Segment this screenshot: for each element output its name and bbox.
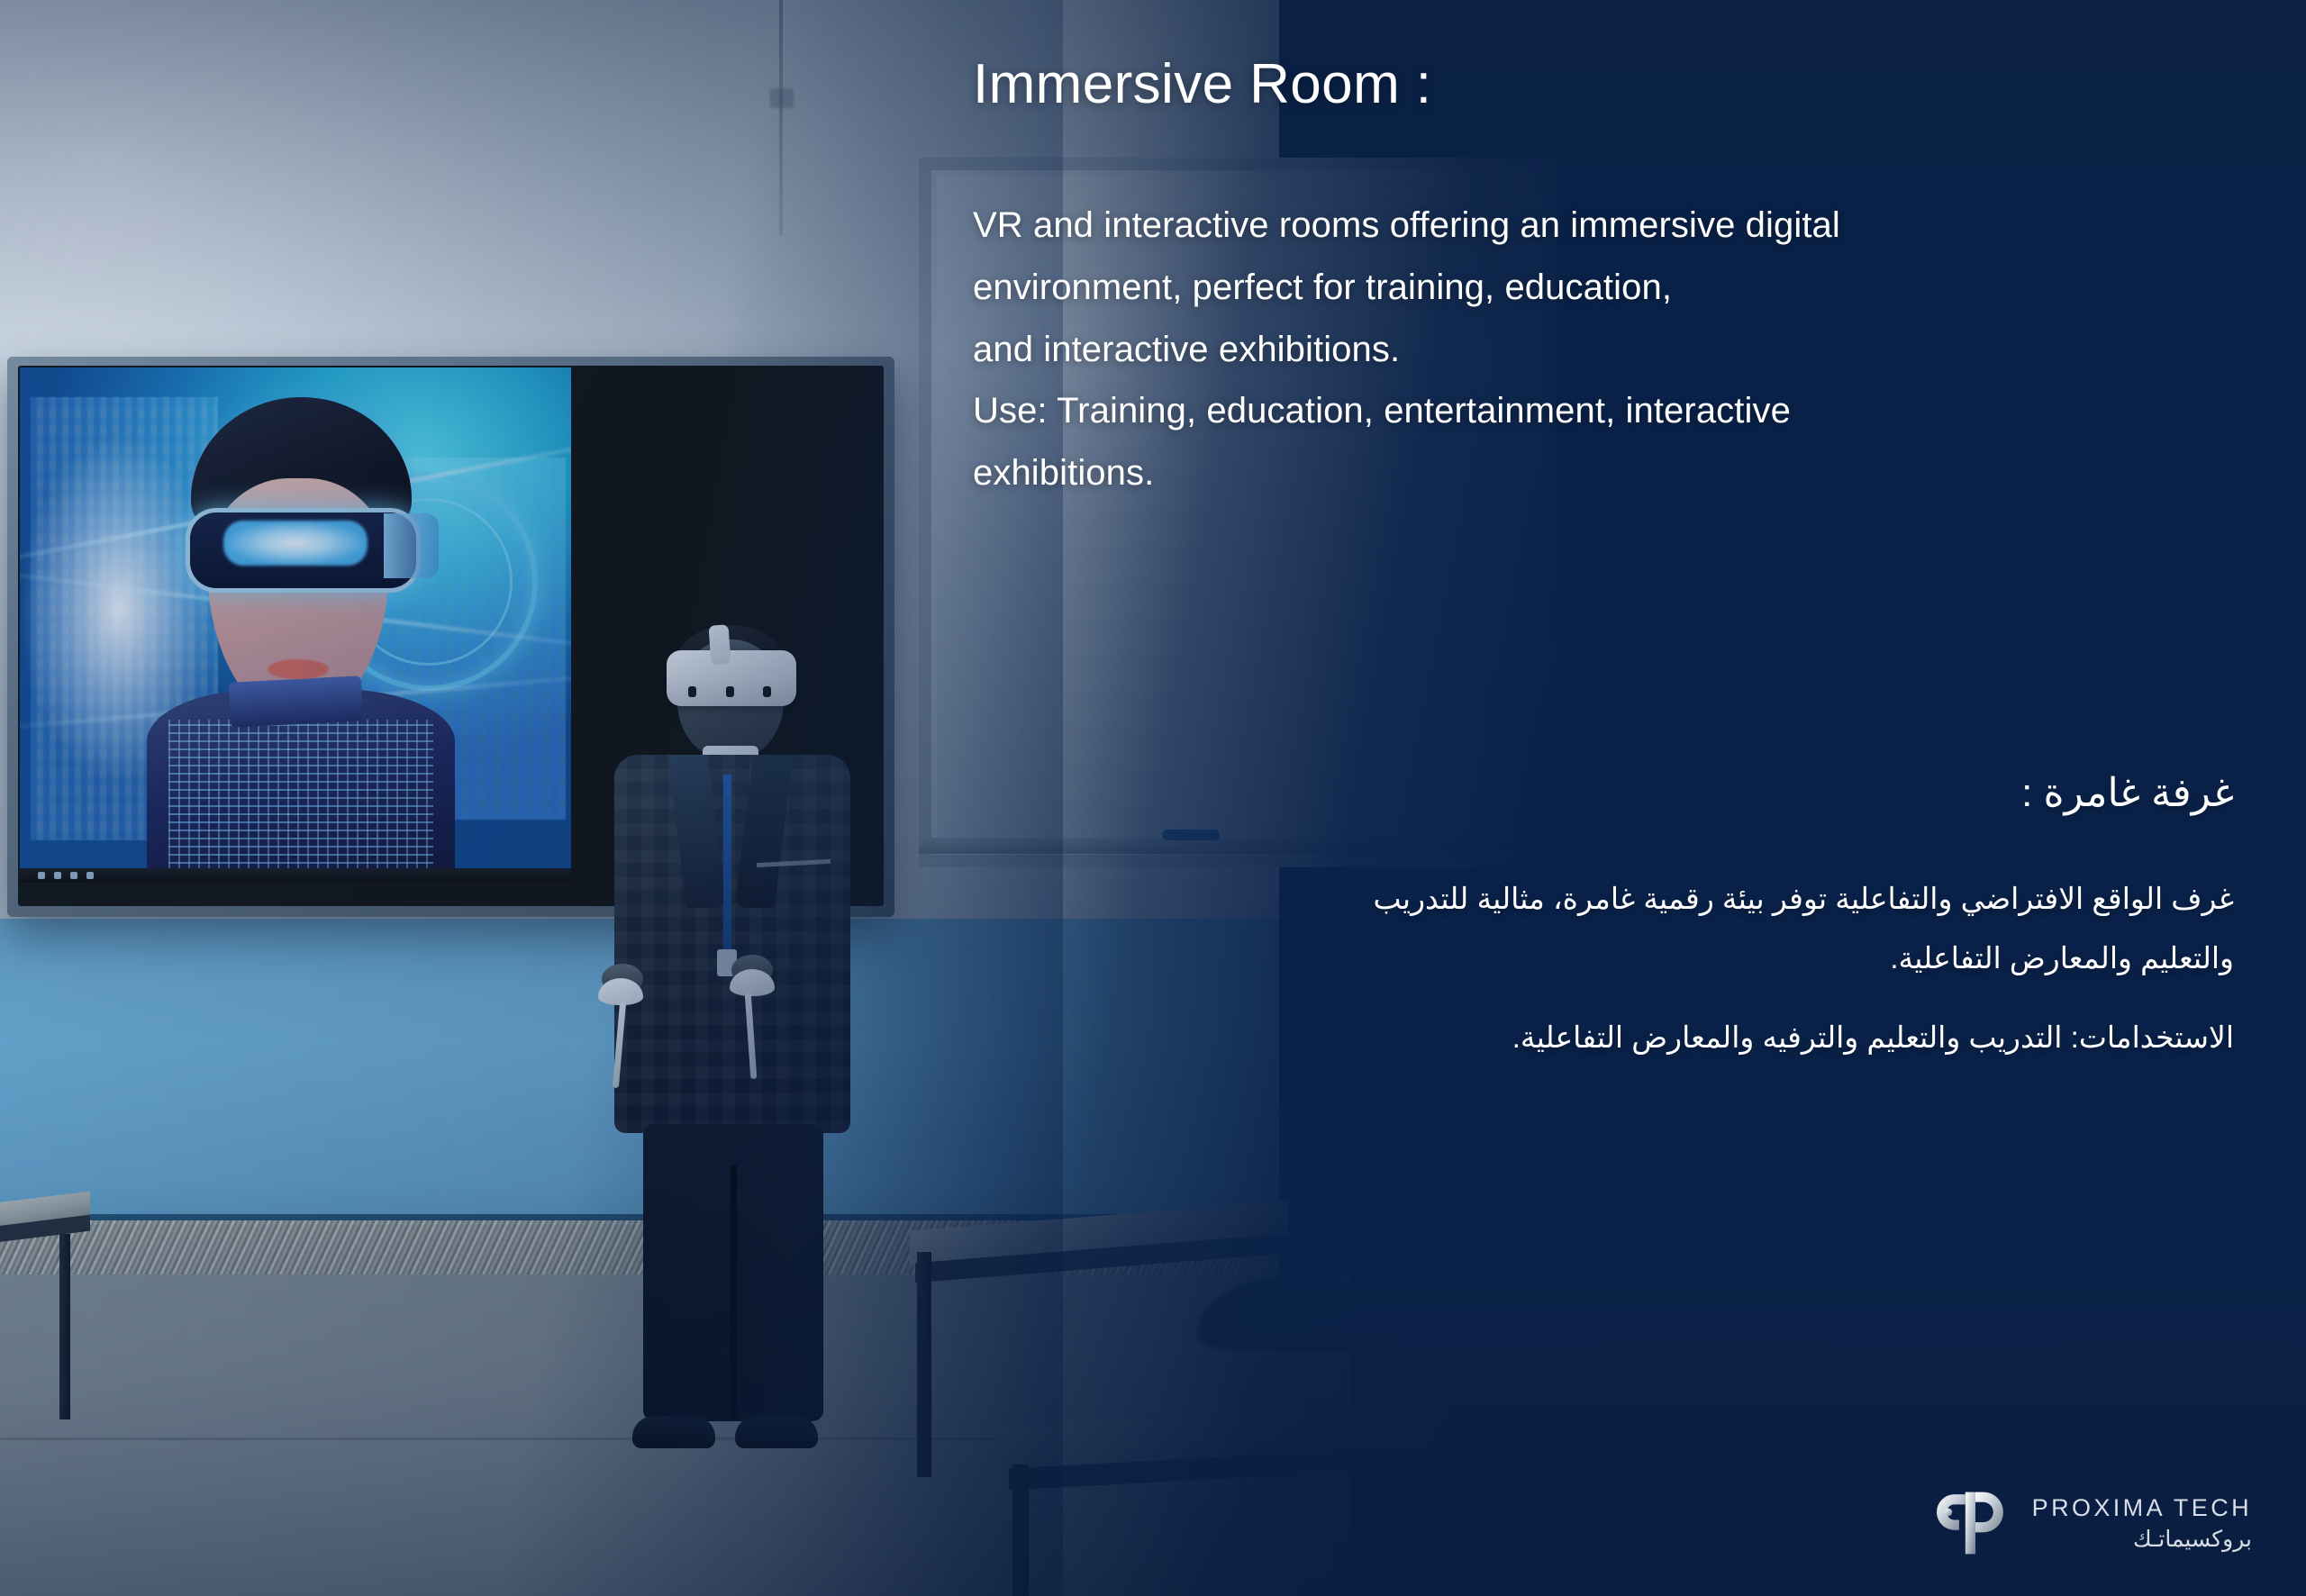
- slide-canvas: Immersive Room : VR and interactive room…: [0, 0, 2306, 1596]
- logo-name-en: PROXIMA TECH: [2032, 1494, 2252, 1522]
- arabic-line: غرف الواقع الافتراضي والتفاعلية توفر بيئ…: [973, 869, 2234, 929]
- logo-name-ar: بروكسيماتـك: [2032, 1526, 2252, 1553]
- arabic-title: غرفة غامرة :: [2021, 770, 2234, 816]
- english-line: VR and interactive rooms offering an imm…: [973, 195, 2216, 257]
- logo-wordmark: PROXIMA TECH بروكسيماتـك: [2032, 1494, 2252, 1553]
- proxima-monogram-icon: [1937, 1484, 2014, 1562]
- brand-logo: PROXIMA TECH بروكسيماتـك: [1937, 1484, 2252, 1562]
- english-line: environment, perfect for training, educa…: [973, 257, 2216, 319]
- english-line: exhibitions.: [973, 442, 2216, 504]
- arabic-description: غرف الواقع الافتراضي والتفاعلية توفر بيئ…: [973, 869, 2234, 1067]
- arabic-line: الاستخدامات: التدريب والتعليم والترفيه و…: [973, 1008, 2234, 1067]
- english-line: and interactive exhibitions.: [973, 319, 2216, 381]
- slide-content: Immersive Room : VR and interactive room…: [0, 0, 2306, 1596]
- arabic-line: والتعليم والمعارض التفاعلية.: [973, 929, 2234, 988]
- english-description: VR and interactive rooms offering an imm…: [973, 195, 2216, 504]
- page-title: Immersive Room :: [973, 54, 1431, 115]
- english-line: Use: Training, education, entertainment,…: [973, 380, 2216, 442]
